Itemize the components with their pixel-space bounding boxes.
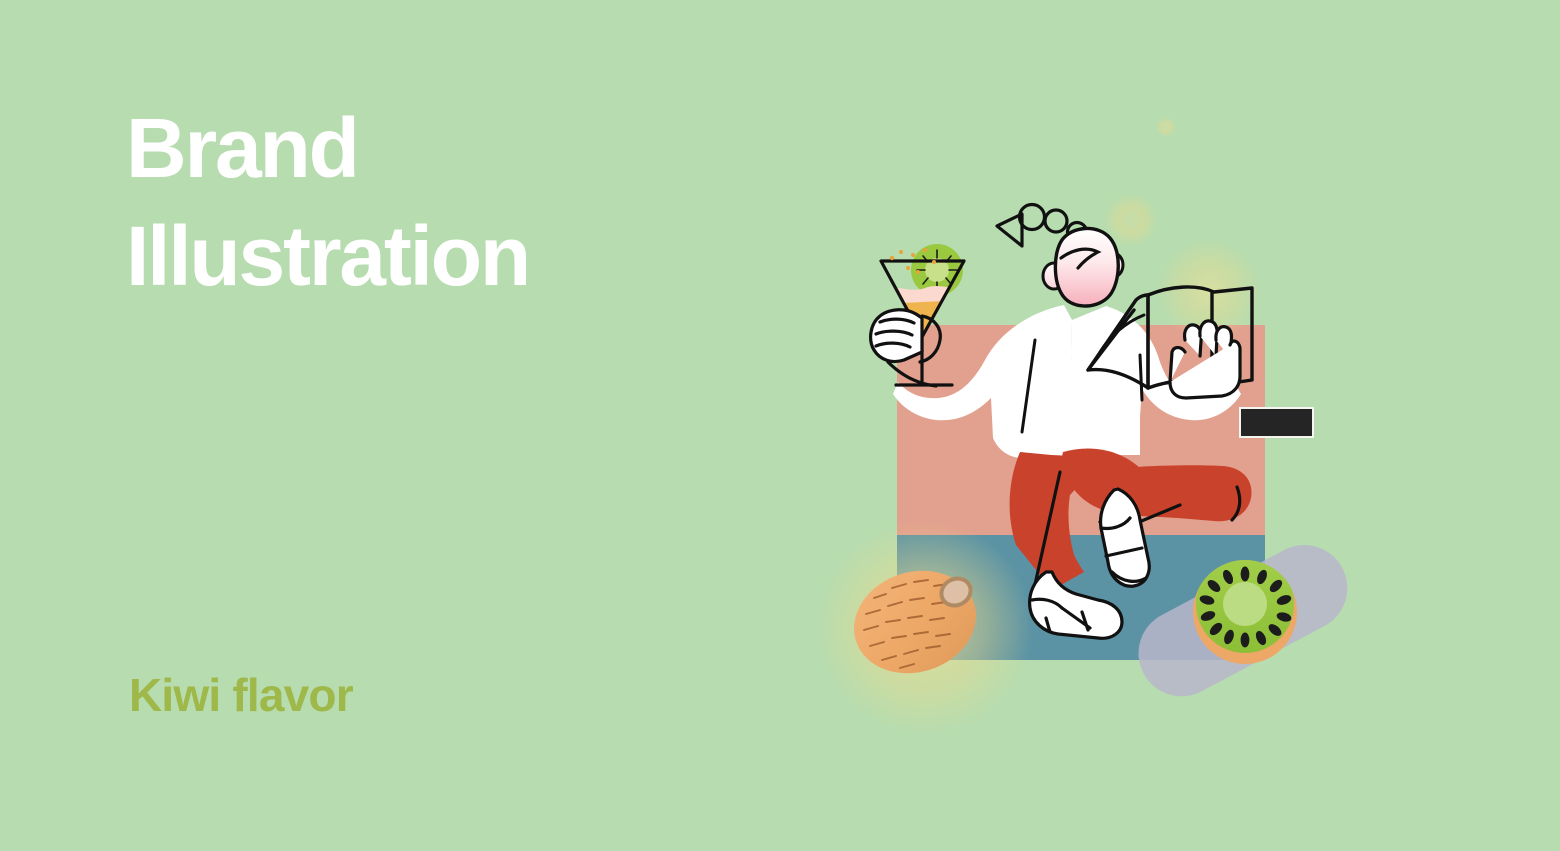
page-title: Brand Illustration — [126, 95, 746, 310]
text-block: Brand Illustration — [126, 95, 746, 310]
poster-canvas: Brand Illustration Kiwi flavor — [0, 0, 1560, 851]
subtitle-label: Kiwi flavor — [129, 668, 353, 722]
